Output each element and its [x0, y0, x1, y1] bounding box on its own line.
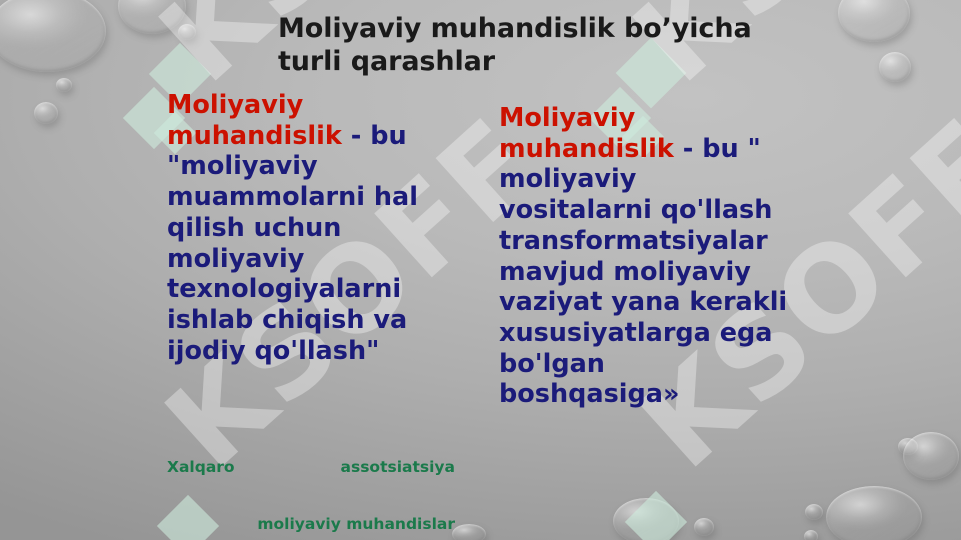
slide-canvas: KSOFF KSOFF KSOFF KSOFF Moliyaviy muhand…	[0, 0, 961, 540]
droplet-icon	[178, 24, 196, 40]
attribution-line-1: Xalqaro assotsiatsiya	[167, 452, 455, 483]
droplet-icon	[804, 530, 818, 540]
droplet-icon	[805, 504, 823, 520]
droplet-icon	[826, 486, 922, 540]
chevron-shape-icon	[625, 491, 687, 540]
droplet-icon	[694, 518, 714, 536]
water-droplets-decoration	[0, 0, 961, 540]
attribution-line-2: moliyaviy muhandislar	[167, 515, 455, 533]
page-title: Moliyaviy muhandislik bo’yicha turli qar…	[278, 12, 798, 79]
definition-left-column: Moliyaviy muhandislik - bu "moliyaviy mu…	[167, 90, 457, 366]
droplet-icon	[879, 52, 911, 82]
droplet-icon	[903, 432, 959, 480]
droplet-icon	[56, 78, 72, 92]
definition-right-keyword: Moliyaviy muhandislik	[499, 103, 674, 164]
droplet-icon	[0, 0, 106, 72]
definition-left-keyword: Moliyaviy muhandislik	[167, 90, 342, 151]
definition-left-body: - bu "moliyaviy muammolarni hal qilish u…	[167, 121, 418, 366]
definition-right-column: Moliyaviy muhandislik - bu " moliyaviy v…	[499, 103, 789, 410]
droplet-icon	[613, 498, 679, 540]
droplet-icon	[838, 0, 910, 42]
definition-right-body: - bu " moliyaviy vositalarni qo'llash tr…	[499, 134, 787, 410]
droplet-icon	[452, 524, 486, 540]
droplet-icon	[34, 102, 58, 124]
droplet-icon	[118, 0, 186, 34]
droplet-icon	[898, 438, 918, 455]
